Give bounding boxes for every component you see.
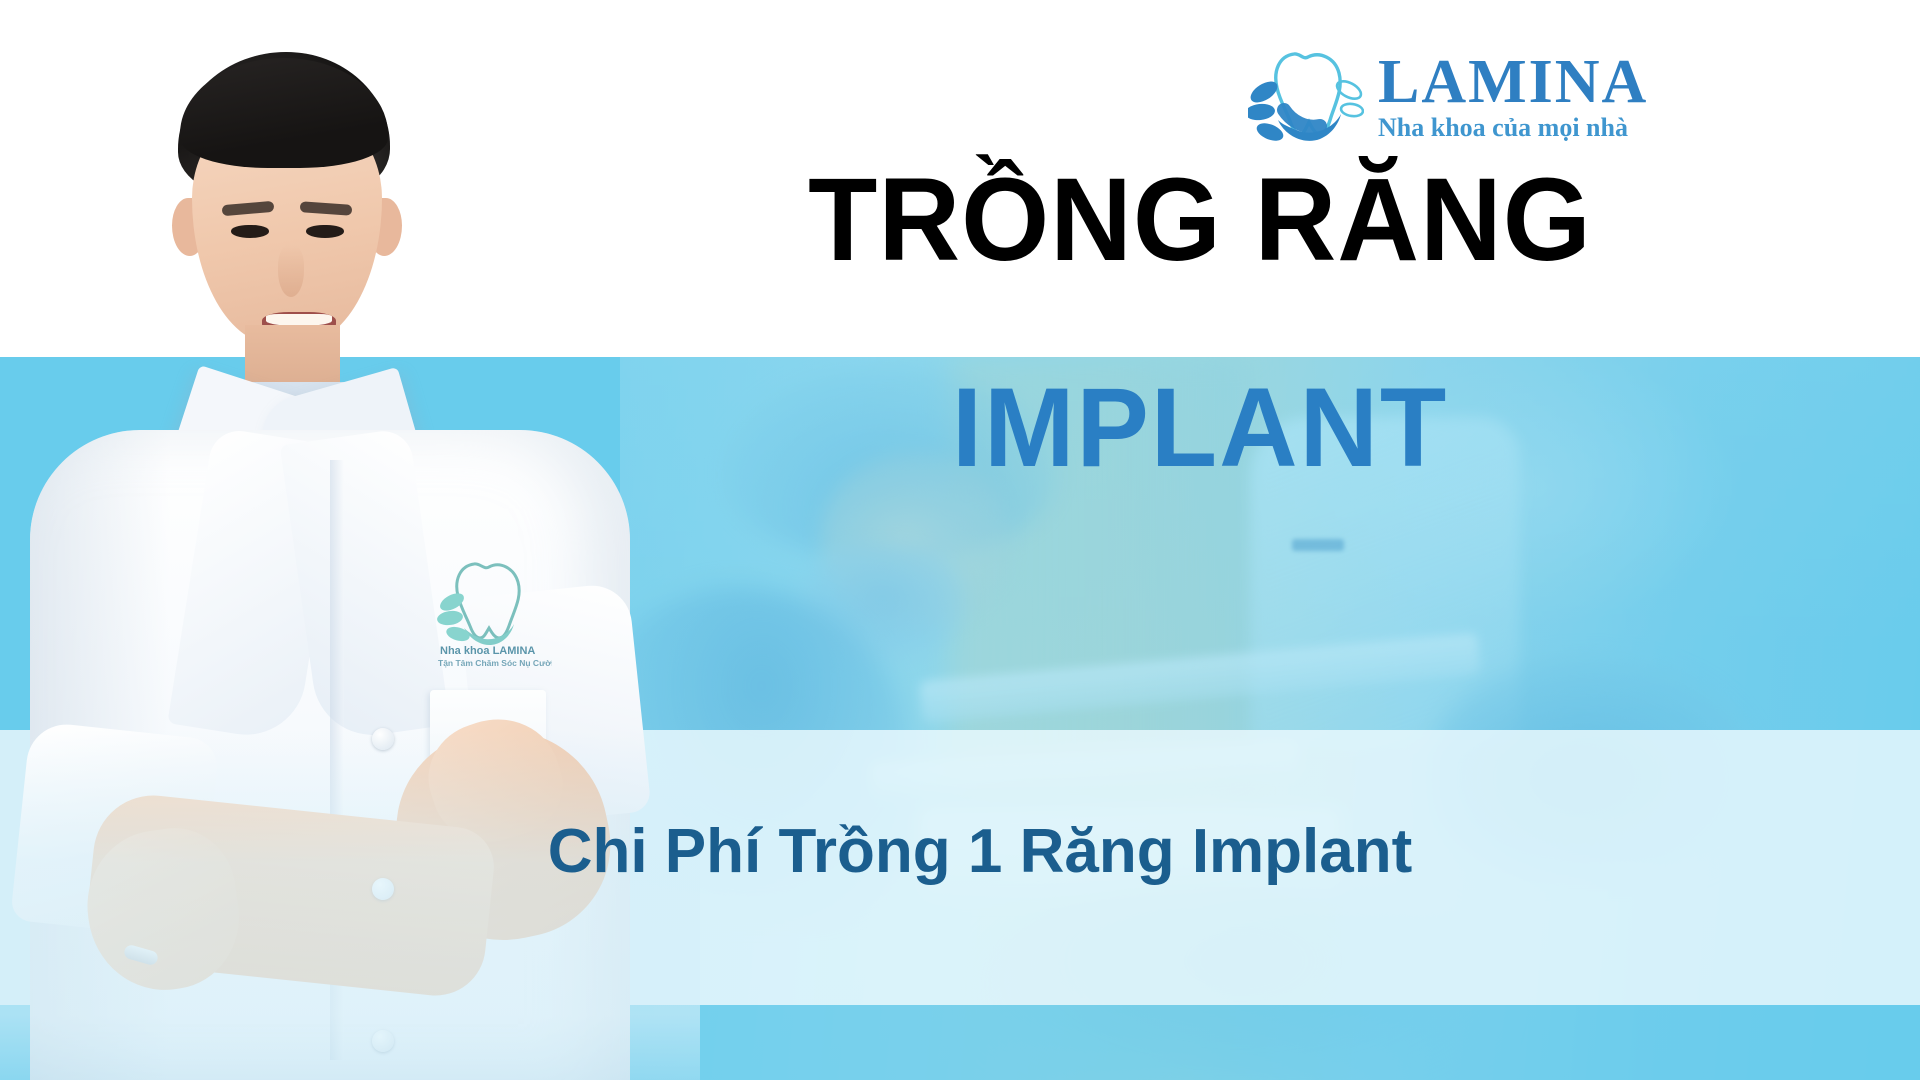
coat-emblem-brand: Nha khoa LAMINA [440, 645, 535, 657]
dentist-nose [278, 245, 304, 297]
dentist-eye-left [231, 225, 269, 238]
lamina-tagline: Nha khoa của mọi nhà [1378, 114, 1648, 143]
dentist-portrait: Nha khoa LAMINA Tận Tâm Chăm Sóc Nụ Cười [0, 30, 700, 1080]
dentist-hair-front [180, 58, 388, 168]
dental-promo-banner: Nha khoa LAMINA Tận Tâm Chăm Sóc Nụ Cười [0, 0, 1920, 1080]
lamina-logo: LAMINA Nha khoa của mọi nhà [1248, 42, 1668, 154]
coat-button-3 [372, 1030, 394, 1052]
tooth-leaf-logo-icon [1248, 44, 1364, 152]
clinic-photo-bottom-strip [620, 1005, 1920, 1080]
dentist-eye-right [306, 225, 344, 238]
coat-lamina-emblem: Nha khoa LAMINA Tận Tâm Chăm Sóc Nụ Cười [434, 550, 552, 670]
lamina-logo-text: LAMINA Nha khoa của mọi nhà [1378, 53, 1648, 143]
lamina-brand-name: LAMINA [1378, 53, 1648, 113]
coat-button-1 [372, 728, 394, 750]
headline-secondary: IMPLANT [802, 372, 1597, 484]
coat-emblem-tagline: Tận Tâm Chăm Sóc Nụ Cười [438, 658, 552, 668]
headline-primary: TRỒNG RĂNG [806, 160, 1593, 280]
banner-caption: Chi Phí Trồng 1 Răng Implant [380, 818, 1580, 886]
